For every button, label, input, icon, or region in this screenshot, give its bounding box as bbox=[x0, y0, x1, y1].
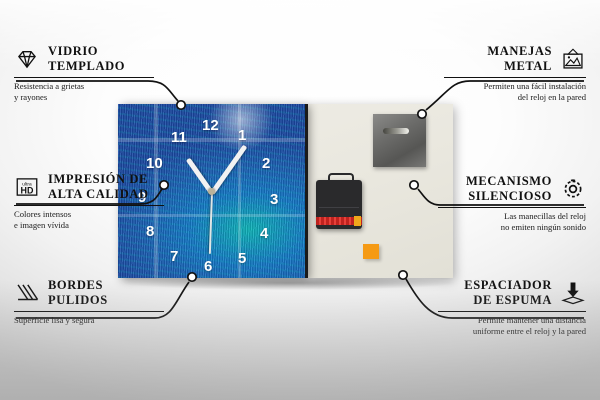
print-grid-line bbox=[118, 138, 305, 142]
foam-spacer bbox=[363, 244, 379, 259]
callout-title-row: VIDRIO TEMPLADO bbox=[14, 44, 154, 74]
polished-edges-icon bbox=[14, 280, 40, 306]
mechanism-seam bbox=[319, 207, 359, 208]
second-hand bbox=[208, 192, 212, 254]
mechanism-sticker bbox=[354, 216, 361, 226]
callout-bordes-pulidos: BORDES PULIDOS Superficie lisa y segura bbox=[14, 278, 164, 326]
callout-divider bbox=[438, 207, 586, 208]
callout-desc-line1: Permite mantener una distancia bbox=[438, 315, 586, 326]
callout-desc-line2: del reloj en la pared bbox=[444, 92, 586, 103]
clock-number-4: 4 bbox=[260, 226, 268, 241]
infographic-canvas: 12 1 2 3 4 5 6 7 8 9 10 11 bbox=[0, 0, 600, 400]
callout-title-row: MANEJAS METAL bbox=[444, 44, 586, 74]
callout-divider bbox=[14, 205, 164, 206]
clock-number-2: 2 bbox=[262, 156, 270, 171]
ultra-hd-icon: ultra HD bbox=[14, 174, 40, 200]
callout-desc-line1: Resistencia a grietas bbox=[14, 81, 154, 92]
callout-title-row: ESPACIADOR DE ESPUMA bbox=[438, 278, 586, 308]
callout-manejas-metal: MANEJAS METAL Permiten una fácil instala… bbox=[444, 44, 586, 104]
callout-title-text: VIDRIO TEMPLADO bbox=[48, 44, 125, 74]
callout-desc-line1: Colores intensos bbox=[14, 209, 164, 220]
clock-number-12: 12 bbox=[202, 118, 219, 133]
product-shadow bbox=[124, 276, 454, 290]
hanger-slot bbox=[383, 128, 409, 134]
clock-number-1: 1 bbox=[238, 128, 246, 143]
callout-mecanismo-silencioso: MECANISMO SILENCIOSO Las manecillas del … bbox=[438, 174, 586, 234]
callout-espaciador-espuma: ESPACIADOR DE ESPUMA Permite mantener un… bbox=[438, 278, 586, 338]
callout-desc-line1: Permiten una fácil instalación bbox=[444, 81, 586, 92]
callout-title-row: BORDES PULIDOS bbox=[14, 278, 164, 308]
callout-divider bbox=[438, 311, 586, 312]
callout-title-text: MANEJAS METAL bbox=[487, 44, 552, 74]
callout-desc-line2: y rayones bbox=[14, 92, 154, 103]
callout-divider bbox=[14, 311, 164, 312]
clock-number-5: 5 bbox=[238, 251, 246, 266]
callout-desc-line2: e imagen vívida bbox=[14, 220, 164, 231]
callout-title-text: ESPACIADOR DE ESPUMA bbox=[464, 278, 552, 308]
minute-hand bbox=[209, 145, 246, 195]
callout-impresion-alta-calidad: ultra HD IMPRESIÓN DE ALTA CALIDAD Color… bbox=[14, 172, 164, 232]
callout-title-text: IMPRESIÓN DE ALTA CALIDAD bbox=[48, 172, 149, 202]
callout-vidrio-templado: VIDRIO TEMPLADO Resistencia a grietas y … bbox=[14, 44, 154, 104]
clock-number-6: 6 bbox=[204, 259, 212, 274]
callout-title-row: ultra HD IMPRESIÓN DE ALTA CALIDAD bbox=[14, 172, 164, 202]
callout-title-row: MECANISMO SILENCIOSO bbox=[438, 174, 586, 204]
callout-divider bbox=[444, 77, 586, 78]
diamond-icon bbox=[14, 46, 40, 72]
clock-number-7: 7 bbox=[170, 249, 178, 264]
framed-picture-icon bbox=[560, 46, 586, 72]
callout-divider bbox=[14, 77, 154, 78]
svg-text:HD: HD bbox=[21, 185, 34, 195]
callout-desc-line1: Las manecillas del reloj bbox=[438, 211, 586, 222]
clock-mechanism bbox=[316, 180, 362, 229]
callout-title-text: BORDES PULIDOS bbox=[48, 278, 108, 308]
clock-number-10: 10 bbox=[146, 156, 163, 171]
arrow-down-pad-icon bbox=[560, 280, 586, 306]
callout-desc-line1: Superficie lisa y segura bbox=[14, 315, 164, 326]
clock-number-11: 11 bbox=[171, 130, 187, 145]
clock-back-panel bbox=[308, 104, 453, 278]
clock-number-3: 3 bbox=[270, 192, 278, 207]
gear-icon bbox=[560, 176, 586, 202]
mechanism-handle bbox=[328, 173, 354, 184]
callout-title-text: MECANISMO SILENCIOSO bbox=[466, 174, 552, 204]
callout-desc-line2: no emiten ningún sonido bbox=[438, 222, 586, 233]
metal-hanger-plate bbox=[373, 114, 426, 167]
clock-center-pin bbox=[208, 188, 215, 195]
callout-desc-line2: uniforme entre el reloj y la pared bbox=[438, 326, 586, 337]
